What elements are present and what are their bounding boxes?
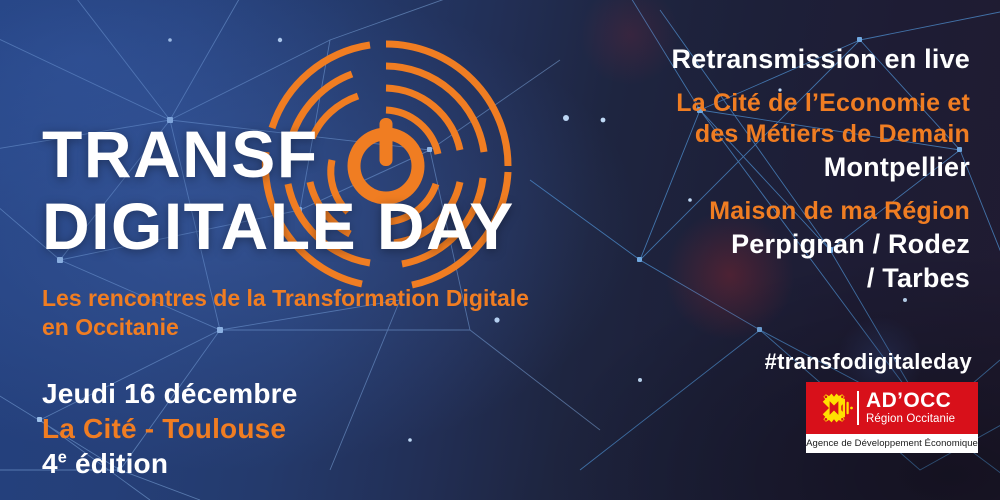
event-subtitle: Les rencontres de la Transformation Digi… — [42, 284, 622, 342]
event-title-transfo: TRANSF — [42, 117, 319, 191]
live-venue-2-cities-line-1: Perpignan / Rodez — [590, 227, 970, 261]
event-title-line-1: TRANSFO — [42, 118, 642, 190]
logo-region: Région Occitanie — [866, 412, 955, 426]
spacer — [590, 76, 970, 88]
live-broadcast-block: Retransmission en live La Cité de l’Econ… — [590, 42, 970, 295]
live-venue-1-city: Montpellier — [590, 150, 970, 184]
event-date-block: Jeudi 16 décembre La Cité - Toulouse 4e … — [42, 376, 642, 481]
live-heading: Retransmission en live — [590, 42, 970, 76]
logo-divider — [857, 391, 859, 425]
logo-text-group: AD’OCC Région Occitanie — [866, 390, 955, 426]
occitan-cross-icon — [814, 391, 854, 425]
edition-word: édition — [75, 448, 168, 479]
event-edition: 4e édition — [42, 446, 642, 481]
event-title-line-2: DIGITALE DAY — [42, 190, 642, 262]
live-venue-2-cities-line-2: / Tarbes — [590, 261, 970, 295]
event-banner: TRANSFO DIGITALE DAY Les rencontres de l… — [0, 0, 1000, 500]
event-date: Jeudi 16 décembre — [42, 376, 642, 411]
live-venue-1-line-2: des Métiers de Demain — [590, 119, 970, 150]
logo-tagline-panel: Agence de Développement Économique — [806, 434, 978, 453]
event-hashtag: #transfodigitaleday — [765, 349, 972, 375]
edition-number: 4 — [42, 448, 58, 479]
event-subtitle-line-2: en Occitanie — [42, 313, 622, 342]
spacer — [590, 184, 970, 196]
adocc-logo[interactable]: AD’OCC Région Occitanie Agence de Dévelo… — [806, 382, 978, 453]
live-venue-1-line-1: La Cité de l’Economie et — [590, 88, 970, 119]
logo-name: AD’OCC — [866, 390, 955, 412]
logo-red-panel: AD’OCC Région Occitanie — [806, 382, 978, 434]
logo-tagline: Agence de Développement Économique — [806, 438, 978, 449]
live-venue-2: Maison de ma Région — [590, 196, 970, 227]
hero-text-block: TRANSFO DIGITALE DAY Les rencontres de l… — [42, 118, 642, 481]
edition-suffix: e — [58, 449, 67, 467]
event-subtitle-line-1: Les rencontres de la Transformation Digi… — [42, 284, 622, 313]
event-venue: La Cité - Toulouse — [42, 411, 642, 446]
